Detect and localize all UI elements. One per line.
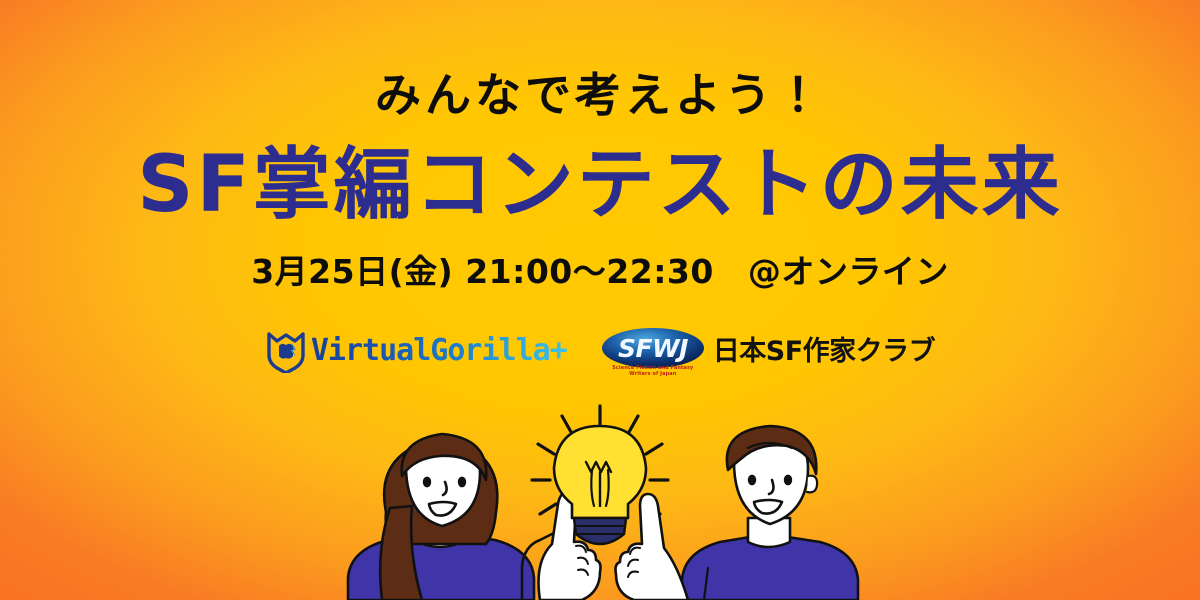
sfwj-tagline-line1: Science Fiction and Fantasy [612,365,693,371]
sfwj-tagline: Science Fiction and Fantasy Writers of J… [603,365,703,378]
logo-sfwj: SFWJ Science Fiction and Fantasy Writers… [601,326,935,376]
sfwj-tagline-line2: Writers of Japan [629,371,676,377]
event-venue: @オンライン [748,252,949,291]
event-banner: みんなで考えよう！ SF掌編コンテストの未来 3月25日(金) 21:00〜22… [0,0,1200,600]
virtual-gorilla-wordmark: VirtualGorilla+ [311,336,567,366]
logo-virtual-gorilla: VirtualGorilla+ [265,326,567,376]
logo-row: VirtualGorilla+ SFWJ [0,326,1200,376]
kicker-text: みんなで考えよう！ [0,72,1200,118]
event-datetime-row: 3月25日(金) 21:00〜22:30@オンライン [0,255,1200,288]
sfwj-emblem-icon: SFWJ Science Fiction and Fantasy Writers… [601,326,705,376]
people-illustration [290,400,910,600]
gorilla-shield-icon [265,329,309,373]
svg-text:SFWJ: SFWJ [618,334,688,363]
page-title: SF掌編コンテストの未来 [0,143,1200,227]
event-date-time: 3月25日(金) 21:00〜22:30 [251,252,714,291]
sfwj-japanese-name: 日本SF作家クラブ [713,338,935,365]
